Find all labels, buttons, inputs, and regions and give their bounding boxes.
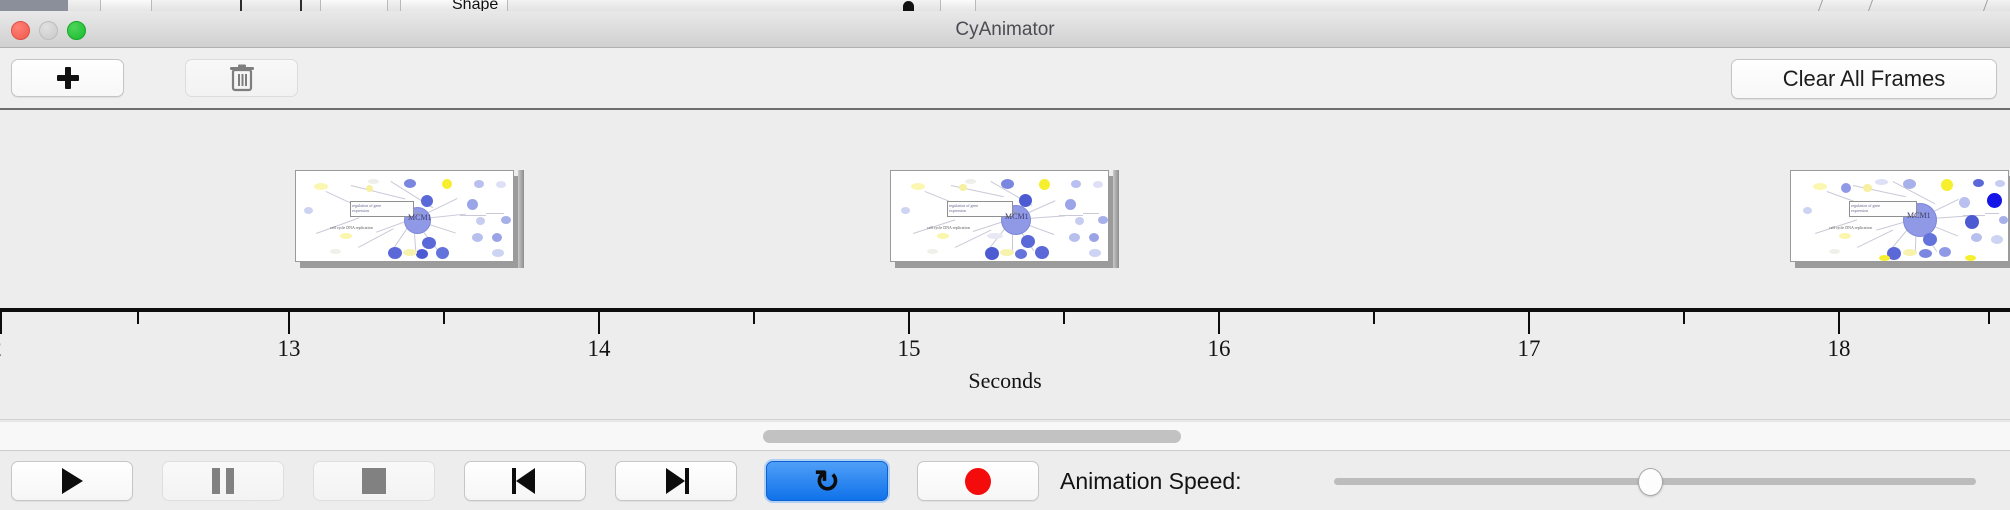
background-marker [903, 1, 914, 11]
clear-all-frames-label: Clear All Frames [1783, 66, 1946, 92]
delete-frame-button[interactable] [185, 59, 298, 97]
record-button[interactable] [917, 461, 1039, 501]
frame-right-edge [1113, 170, 1119, 268]
background-divider [1818, 0, 1823, 11]
frame-right-edge [518, 170, 524, 268]
axis-tick-label: 15 [879, 336, 939, 362]
pause-icon [212, 468, 234, 494]
slider-thumb[interactable] [1638, 468, 1663, 496]
skip-back-icon [512, 468, 538, 494]
axis-tick-minor [1063, 312, 1065, 324]
timeline-frame[interactable]: MCM1 regulation of gene expression cell … [890, 170, 1114, 268]
clear-all-frames-button[interactable]: Clear All Frames [1731, 59, 1997, 99]
axis-tick-label: 2 [0, 336, 26, 362]
play-button[interactable] [11, 461, 133, 501]
axis-tick-label: 14 [569, 336, 629, 362]
axis-tick-minor [137, 312, 139, 324]
frame-toolbar: Clear All Frames [0, 48, 2010, 110]
background-toolbar-box [320, 0, 388, 11]
pause-button[interactable] [162, 461, 284, 501]
timeline-frame[interactable]: MCM1 regulation of gene expression cell … [1790, 170, 2010, 268]
axis-tick-major [908, 312, 910, 334]
skip-forward-icon [663, 468, 689, 494]
frame-thumbnail: MCM1 regulation of gene expression cell … [890, 170, 1109, 262]
loop-icon: ↻ [814, 466, 840, 497]
axis-tick-major [1528, 312, 1530, 334]
timeline-frame[interactable]: MCM1 regulation of gene expression cell … [295, 170, 519, 268]
background-window-label: Shape [452, 0, 498, 11]
scrollbar-thumb[interactable] [763, 430, 1181, 443]
frame-thumbnail: MCM1 regulation of gene expression cell … [1790, 170, 2009, 262]
background-divider [1868, 0, 1873, 11]
trash-icon [229, 63, 255, 93]
record-icon [965, 468, 991, 495]
timeline-panel[interactable]: MCM1 regulation of gene expression cell … [0, 110, 2010, 420]
axis-tick-major [1838, 312, 1840, 334]
title-bar[interactable]: CyAnimator [0, 11, 2010, 48]
play-icon [62, 468, 83, 494]
axis-tick-major [288, 312, 290, 334]
animation-speed-label: Animation Speed: [1060, 461, 1242, 501]
frame-thumbnail: MCM1 regulation of gene expression cell … [295, 170, 514, 262]
axis-tick-label: 13 [259, 336, 319, 362]
plus-icon [57, 67, 79, 89]
stop-icon [362, 468, 386, 494]
axis-tick-minor [1683, 312, 1685, 324]
background-tick [300, 0, 302, 11]
animation-speed-slider[interactable] [1334, 478, 1976, 485]
loop-button[interactable]: ↻ [766, 461, 888, 501]
playback-bar: ↻ Animation Speed: [0, 452, 2010, 510]
timeline-scrollbar[interactable] [0, 421, 2010, 451]
stop-button[interactable] [313, 461, 435, 501]
skip-to-end-button[interactable] [615, 461, 737, 501]
axis-tick-label: 17 [1499, 336, 1559, 362]
add-frame-button[interactable] [11, 59, 124, 97]
background-selection [0, 0, 68, 11]
axis-title: Seconds [0, 368, 2010, 394]
axis-tick-major [598, 312, 600, 334]
background-window-strip: Shape [0, 0, 2010, 11]
background-tick [240, 0, 242, 11]
window-title: CyAnimator [0, 11, 2010, 48]
axis-tick-minor [1988, 312, 1990, 324]
axis-tick-minor [443, 312, 445, 324]
axis-tick-minor [753, 312, 755, 324]
background-divider [1983, 0, 1988, 11]
axis-tick-major [0, 312, 2, 334]
skip-to-start-button[interactable] [464, 461, 586, 501]
axis-tick-label: 18 [1809, 336, 1869, 362]
background-toolbar-box [940, 0, 976, 11]
timeline-axis [0, 308, 2010, 312]
background-toolbar-box [100, 0, 152, 11]
axis-tick-major [1218, 312, 1220, 334]
axis-tick-label: 16 [1189, 336, 1249, 362]
axis-tick-minor [1373, 312, 1375, 324]
